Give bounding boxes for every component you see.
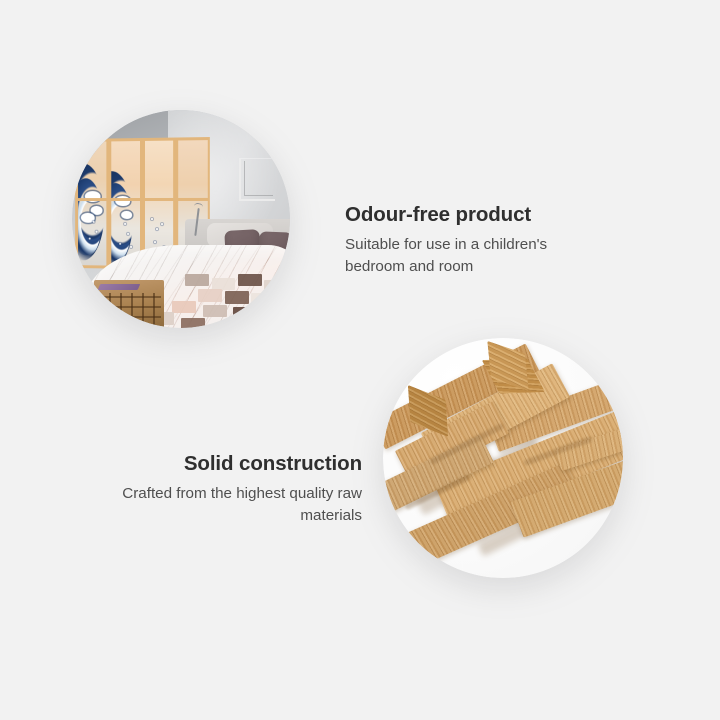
screen-panel-2 [108, 138, 141, 269]
screen-panel-1 [75, 139, 108, 269]
feature-odour-free-description: Suitable for use in a children's bedroom… [345, 234, 595, 277]
purple-book [98, 284, 141, 290]
feature-solid-construction-description: Crafted from the highest quality raw mat… [100, 483, 362, 526]
feature-odour-free-title: Odour-free product [345, 203, 595, 227]
feature-solid-construction: Solid construction Crafted from the high… [100, 452, 362, 526]
feature-solid-construction-title: Solid construction [100, 452, 362, 476]
timber-scene [383, 338, 623, 578]
lattice-nightstand [94, 280, 164, 328]
timber-photo-circle [383, 338, 623, 578]
bedroom-scene [72, 110, 290, 328]
lattice-pattern [98, 293, 161, 328]
bedroom-photo-circle [72, 110, 290, 328]
picture-frame-corner [239, 158, 275, 201]
feature-odour-free: Odour-free product Suitable for use in a… [345, 203, 595, 277]
infographic-canvas: Odour-free product Suitable for use in a… [0, 0, 720, 720]
